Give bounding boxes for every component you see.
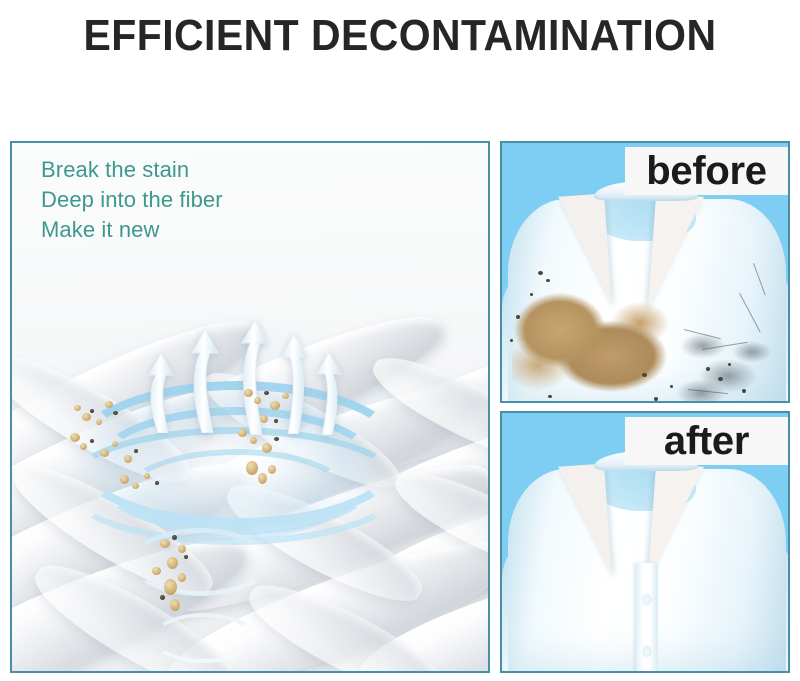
coffee-stain — [512, 283, 672, 401]
deep-clean-illustration-panel: Break the stain Deep into the fiber Make… — [10, 141, 490, 673]
after-label: after — [664, 420, 749, 462]
after-photo-panel: after — [500, 411, 790, 673]
upward-arrow-icon — [308, 347, 350, 435]
before-label-box: before — [625, 147, 788, 195]
tertiary-swirl-graphic — [152, 613, 256, 663]
tagline-line-2: Deep into the fiber — [41, 185, 223, 215]
shirt-placket — [636, 563, 658, 671]
tagline-line-3: Make it new — [41, 215, 223, 245]
tagline-block: Break the stain Deep into the fiber Make… — [41, 155, 223, 245]
after-label-box: after — [625, 417, 788, 465]
before-label: before — [646, 150, 766, 192]
page-title: EFFICIENT DECONTAMINATION — [28, 8, 772, 64]
secondary-swirl-graphic — [130, 528, 270, 596]
upward-arrow-icon — [183, 325, 225, 433]
tagline-line-1: Break the stain — [41, 155, 223, 185]
upward-arrow-icon — [233, 317, 275, 435]
upward-arrow-icon — [140, 349, 180, 433]
before-photo-panel: before — [500, 141, 790, 403]
